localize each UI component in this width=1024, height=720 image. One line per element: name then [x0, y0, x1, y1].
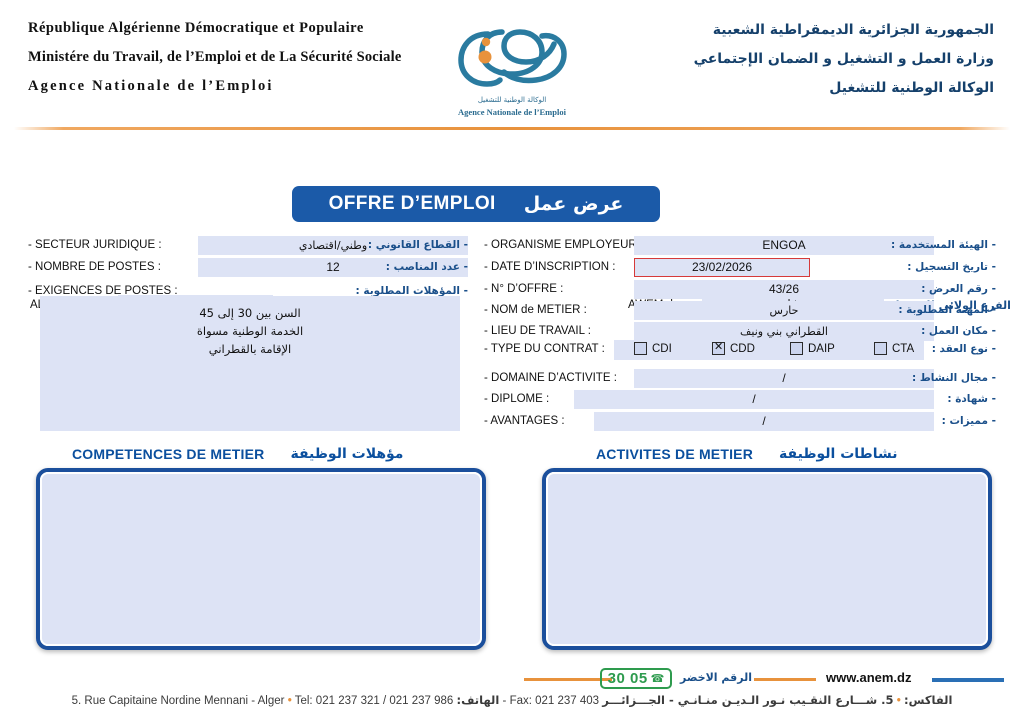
tel-french: Tel: 021 237 321 / 021 237 986 — [295, 695, 454, 707]
field-nombre-de-postes: - NOMBRE DE POSTES : 12 - عدد المناصب : — [28, 258, 468, 277]
footer-address: 5. Rue Capitaine Nordine Mennani - Alger… — [0, 693, 1024, 715]
field-label-fr: - TYPE DU CONTRAT : — [484, 343, 605, 355]
section-title-french: COMPETENCES DE METIER — [72, 446, 264, 462]
exigences-line: الخدمة الوطنية مسواة — [40, 322, 460, 340]
checkbox-label: CDI — [652, 343, 672, 355]
section-header-activites: ACTIVITES DE METIER نشاطات الوظيفة — [596, 444, 898, 464]
checkbox-box-icon[interactable] — [790, 342, 803, 355]
field-date-inscription: - DATE D’INSCRIPTION : 23/02/2026 - تاري… — [484, 258, 996, 277]
header-arabic-block: الجمهورية الجزائرية الديمقراطية الشعبية … — [574, 16, 994, 103]
field-label-ar: - المهنة المطلوبة : — [898, 304, 996, 316]
address-dash: - — [503, 695, 507, 707]
banner-title-arabic: عرض عمل — [524, 193, 624, 215]
header-fr-line-2: Ministére du Travail, de l’Emploi et de … — [28, 43, 428, 72]
field-label-fr: - DATE D’INSCRIPTION : — [484, 261, 615, 273]
field-label-ar: - رقم العرض : — [921, 283, 996, 295]
field-value[interactable]: 43/26 — [634, 280, 934, 299]
footer-rule-orange-right — [754, 678, 816, 681]
section-title-arabic: نشاطات الوظيفة — [779, 446, 897, 462]
field-label-ar: - تاريخ التسجيل : — [907, 261, 996, 273]
section-title-arabic: مؤهلات الوظيفة — [290, 446, 403, 462]
field-label-fr: - SECTEUR JURIDIQUE : — [28, 239, 162, 251]
field-label-fr: - ORGANISME EMPLOYEUR : — [484, 239, 643, 251]
field-label-fr: - LIEU DE TRAVAIL : — [484, 325, 591, 337]
field-label-ar: - مميزات : — [942, 415, 996, 427]
logo-caption-french: Agence Nationale de l’Emploi — [442, 107, 582, 117]
exigences-textarea[interactable]: السن بين 30 إلى 45 الخدمة الوطنية مسواة … — [40, 296, 460, 431]
header-ar-line-2: وزارة العمل و التشغيل و الضمان الإجتماعي — [574, 45, 994, 74]
checkbox-label: CDD — [730, 343, 755, 355]
exigences-content: السن بين 30 إلى 45 الخدمة الوطنية مسواة … — [40, 296, 460, 358]
header-ar-line-1: الجمهورية الجزائرية الديمقراطية الشعبية — [574, 16, 994, 45]
office-row: ALEM de بني ونيف الملحقة المحلية للتشغيل… — [0, 147, 1024, 169]
field-value[interactable]: 23/02/2026 — [634, 258, 810, 277]
header-french-block: République Algérienne Démocratique et Po… — [28, 14, 428, 101]
anem-logo-mark — [442, 12, 582, 96]
field-label-ar: - مجال النشاط : — [912, 372, 996, 384]
logo-dot-small — [482, 38, 490, 46]
address-french: 5. Rue Capitaine Nordine Mennani - Alger — [72, 695, 285, 707]
field-label-fr: - DOMAINE D’ACTIVITE : — [484, 372, 617, 384]
field-organisme-employeur: - ORGANISME EMPLOYEUR : ENGOA - الهيئة ا… — [484, 236, 996, 255]
header-divider — [14, 127, 1010, 130]
address-separator-dot-2: • — [897, 695, 901, 707]
logo-dot-large — [479, 51, 492, 64]
document-page: République Algérienne Démocratique et Po… — [0, 0, 1024, 720]
checkbox-box-icon[interactable] — [874, 342, 887, 355]
phone-icon: ☎ — [651, 672, 665, 685]
checkbox-cta[interactable]: CTA — [874, 342, 914, 355]
field-label-fr: - AVANTAGES : — [484, 415, 565, 427]
field-numero-offre: - N° D’OFFRE : 43/26 - رقم العرض : — [484, 280, 996, 299]
address-arabic: 5. شـــارع النقـيب نـور الـديـن منـانـي … — [602, 693, 893, 707]
header-ar-line-3: الوكالة الوطنية للتشغيل — [574, 74, 994, 103]
green-number-badge: 30 05 ☎ — [600, 668, 672, 689]
field-value[interactable]: / — [574, 390, 934, 409]
competences-textarea[interactable] — [36, 468, 486, 650]
footer-rule-orange-left — [524, 678, 612, 681]
activites-textarea[interactable] — [542, 468, 992, 650]
section-header-competences: COMPETENCES DE METIER مؤهلات الوظيفة — [72, 444, 403, 464]
field-label-ar: - القطاع القانوني : — [368, 239, 468, 251]
logo-caption-arabic: الوكالة الوطنية للتشغيل — [442, 96, 582, 104]
section-title-french: ACTIVITES DE METIER — [596, 446, 753, 462]
field-label-ar: - شهادة : — [947, 393, 996, 405]
document-header: République Algérienne Démocratique et Po… — [0, 0, 1024, 126]
checkbox-daip[interactable]: DAIP — [790, 342, 835, 355]
field-label-ar: - الهيئة المستخدمة : — [891, 239, 996, 251]
field-label-ar: - عدد المناصب : — [386, 261, 468, 273]
field-label-fr: - N° D’OFFRE : — [484, 283, 563, 295]
checkbox-label: CTA — [892, 343, 914, 355]
website-url[interactable]: www.anem.dz — [826, 670, 911, 685]
field-label-fr: - DIPLOME : — [484, 393, 549, 405]
field-avantages: - AVANTAGES : / - مميزات : — [484, 412, 996, 431]
header-fr-line-1: République Algérienne Démocratique et Po… — [28, 14, 428, 43]
field-value[interactable]: / — [594, 412, 934, 431]
checkbox-cdd[interactable]: CDD — [712, 342, 755, 355]
fax-french: Fax: 021 237 403 — [510, 695, 600, 707]
field-label-fr: - NOM de METIER : — [484, 304, 587, 316]
field-label-ar: - مكان العمل : — [921, 325, 996, 337]
field-secteur-juridique: - SECTEUR JURIDIQUE : وطني/اقتصادي - الق… — [28, 236, 468, 255]
tel-arabic-label: الهاتف: — [457, 693, 500, 707]
anem-logo: الوكالة الوطنية للتشغيل Agence Nationale… — [442, 12, 582, 124]
exigences-line: الإقامة بالقطراني — [40, 340, 460, 358]
fax-arabic-label: الفاكس: — [904, 693, 952, 707]
checkbox-label: DAIP — [808, 343, 835, 355]
field-value[interactable]: / — [634, 369, 934, 388]
field-type-contrat: - TYPE DU CONTRAT : - نوع العقد : CDI CD… — [484, 340, 996, 360]
green-number: 30 05 — [608, 670, 648, 687]
header-fr-line-3: Agence Nationale de l’Emploi — [28, 72, 428, 101]
banner-title-french: OFFRE D’EMPLOI — [329, 193, 496, 215]
field-value[interactable]: القطراني بني ونيف — [634, 322, 934, 341]
checkbox-checked-icon[interactable] — [712, 342, 725, 355]
green-number-label-arabic: الرقم الاخضر — [680, 671, 752, 684]
field-diplome: - DIPLOME : / - شهادة : — [484, 390, 996, 409]
field-domaine-activite: - DOMAINE D’ACTIVITE : / - مجال النشاط : — [484, 369, 996, 388]
footer-rule-blue — [932, 678, 1004, 682]
field-label-ar: - نوع العقد : — [932, 343, 996, 355]
field-lieu-travail: - LIEU DE TRAVAIL : القطراني بني ونيف - … — [484, 322, 996, 341]
checkbox-box-icon[interactable] — [634, 342, 647, 355]
offer-title-banner: OFFRE D’EMPLOI عرض عمل — [292, 186, 660, 222]
field-nom-metier: - NOM de METIER : حارس - المهنة المطلوبة… — [484, 301, 996, 320]
exigences-line: السن بين 30 إلى 45 — [40, 304, 460, 322]
field-value[interactable]: حارس — [634, 301, 934, 320]
field-label-fr: - NOMBRE DE POSTES : — [28, 261, 161, 273]
checkbox-cdi[interactable]: CDI — [634, 342, 672, 355]
address-separator-dot: • — [288, 695, 292, 707]
field-value[interactable]: ENGOA — [634, 236, 934, 255]
footer-contact-bar: 30 05 ☎ الرقم الاخضر www.anem.dz — [0, 668, 1024, 690]
